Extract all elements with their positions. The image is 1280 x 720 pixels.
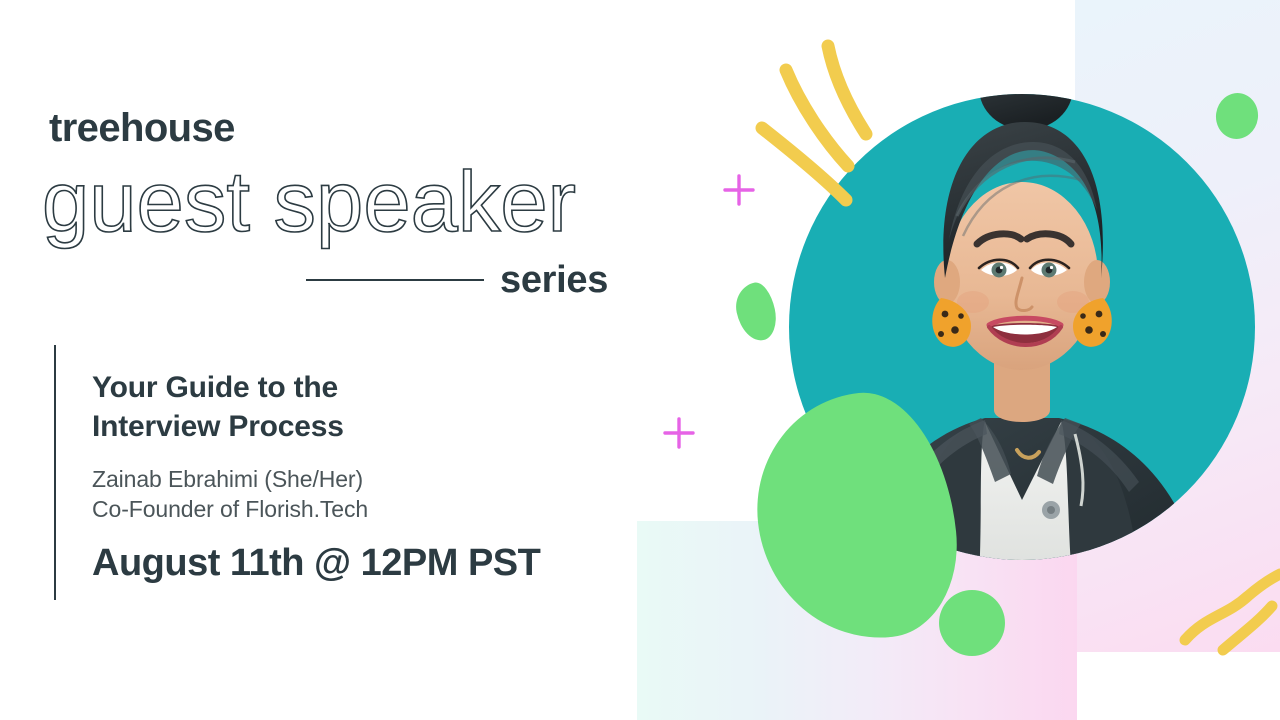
speaker-name: Zainab Ebrahimi (She/Her) — [92, 464, 632, 495]
series-divider-rule — [306, 279, 484, 281]
talk-title: Your Guide to the Interview Process — [92, 368, 632, 447]
series-headline: guest speaker — [42, 160, 576, 245]
green-blob-small — [731, 280, 780, 345]
series-word: series — [500, 261, 608, 299]
brand-wordmark: treehouse — [49, 108, 235, 148]
talk-info-block: Your Guide to the Interview Process Zain… — [92, 368, 632, 585]
series-subline: series — [306, 255, 626, 305]
speaker-role: Co-Founder of Florish.Tech — [92, 494, 632, 525]
promo-slide: treehouse guest speaker series Your Guid… — [0, 0, 1280, 720]
green-blob-round — [939, 590, 1005, 656]
vertical-accent-rule — [54, 345, 56, 600]
event-datetime: August 11th @ 12PM PST — [92, 543, 632, 585]
